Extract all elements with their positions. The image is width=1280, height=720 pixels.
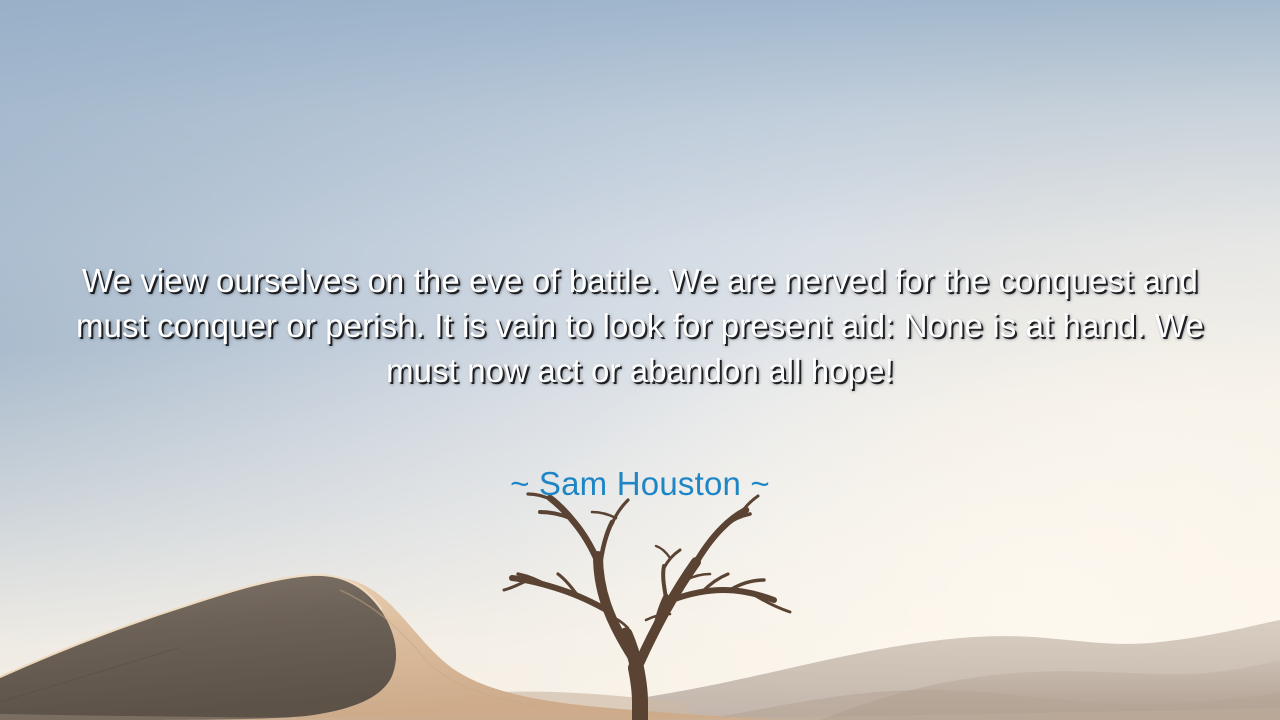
dead-tree-silhouette (440, 470, 840, 720)
quote-attribution: ~ Sam Houston ~ (0, 463, 1280, 505)
quote-block: We view ourselves on the eve of battle. … (0, 258, 1280, 393)
quote-text: We view ourselves on the eve of battle. … (72, 258, 1208, 393)
quote-image-scene: We view ourselves on the eve of battle. … (0, 0, 1280, 720)
